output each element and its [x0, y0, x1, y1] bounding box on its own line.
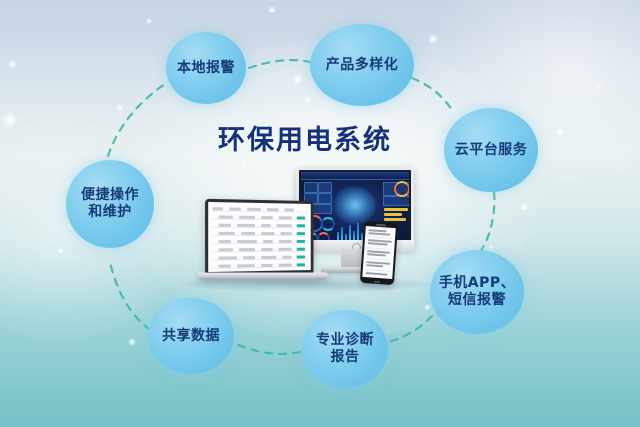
- dashboard-bar: [373, 224, 375, 242]
- table-cell: [237, 223, 255, 226]
- table-cell: [219, 264, 231, 267]
- table-cell: [219, 215, 233, 218]
- phone-speaker-icon: [376, 224, 386, 226]
- bokeh-dot: [488, 244, 494, 250]
- laptop-keyboard-base: [198, 272, 329, 279]
- bokeh-dot: [292, 74, 303, 85]
- connector-ops-to-local: [108, 82, 168, 156]
- table-cell: [261, 247, 273, 250]
- phone-text-line: [368, 242, 388, 245]
- donut-gauge: [305, 232, 318, 244]
- table-cell: [212, 207, 222, 210]
- connector-local-to-product: [249, 60, 310, 68]
- table-cell: [241, 231, 255, 234]
- donut-gauge: [321, 217, 335, 231]
- node-label-line: 手机APP、: [439, 275, 515, 292]
- status-badge: [297, 255, 305, 258]
- table-row: [212, 223, 308, 229]
- device-shadow: [180, 276, 430, 292]
- table-cell: [279, 263, 292, 266]
- bokeh-dot: [2, 112, 18, 128]
- donut-gauge: [317, 232, 330, 244]
- node-label-line: 便捷操作: [81, 187, 139, 204]
- dashboard-bar: [361, 233, 363, 242]
- table-cell: [277, 224, 292, 227]
- table-cell: [219, 231, 235, 234]
- table-row: [212, 262, 308, 269]
- bokeh-dot: [240, 160, 246, 166]
- donut-gauge: [394, 181, 409, 197]
- table-cell: [219, 256, 237, 259]
- phone-text-line: [366, 272, 388, 275]
- dashboard-card: [304, 193, 318, 204]
- table-row: [212, 255, 308, 261]
- bokeh-dot: [58, 248, 64, 254]
- table-cell: [261, 255, 277, 258]
- table-cell: [279, 216, 292, 219]
- table-row: [212, 206, 308, 213]
- table-cell: [282, 255, 292, 258]
- node-label-line: 报告: [316, 349, 374, 366]
- status-badge: [297, 224, 305, 227]
- node-label-group: 专业诊断 报告: [316, 332, 374, 365]
- table-cell: [219, 248, 233, 251]
- status-badge: [297, 239, 305, 242]
- table-cell: [261, 232, 275, 235]
- phone-list-block: [366, 247, 392, 250]
- table-cell: [219, 240, 231, 243]
- bokeh-dot: [424, 304, 431, 311]
- bokeh-dot: [116, 104, 123, 111]
- dashboard-card: [318, 193, 332, 204]
- dashboard-highlight: [384, 218, 406, 221]
- table-cell: [247, 207, 261, 210]
- poster-canvas: 环保用电系统 本地报警 产品多样化 云平台服务 手机APP、 短信报警 专业诊断…: [0, 0, 640, 427]
- bokeh-dot: [304, 96, 311, 103]
- node-product-diversity[interactable]: 产品多样化: [310, 24, 414, 106]
- bokeh-dot: [268, 6, 276, 14]
- desktop-monitor: [296, 167, 414, 249]
- table-cell: [261, 224, 271, 227]
- node-label-group: 便捷操作 和维护: [81, 187, 139, 220]
- bokeh-dot: [128, 338, 136, 346]
- node-label-line: 产品多样化: [326, 57, 399, 74]
- phone-home-button: [374, 281, 380, 283]
- table-cell: [237, 264, 255, 267]
- phone-text-line: [366, 264, 383, 267]
- dashboard-bar: [349, 225, 351, 242]
- table-cell: [279, 239, 292, 242]
- phone-text-line: [366, 261, 390, 264]
- table-cell: [267, 208, 279, 211]
- phone-text-line: [368, 232, 390, 235]
- monitor-bezel-chin: [296, 240, 414, 252]
- dashboard-highlight: [384, 213, 402, 216]
- node-label-group: 共享数据: [162, 328, 220, 345]
- status-badge: [297, 216, 305, 219]
- monitor-logo-icon: [352, 243, 361, 252]
- node-label-group: 手机APP、 短信报警: [439, 275, 515, 308]
- smartphone: [360, 221, 398, 285]
- page-title: 环保用电系统: [218, 118, 392, 157]
- node-label-line: 本地报警: [177, 60, 235, 77]
- phone-list-block: [367, 236, 393, 239]
- bokeh-dot: [556, 128, 564, 136]
- connector-app-to-report: [388, 316, 432, 342]
- table-cell: [261, 216, 273, 219]
- dashboard-bar: [341, 227, 343, 242]
- laptop: [205, 199, 313, 275]
- monitor-stand: [341, 249, 369, 269]
- phone-text-line: [369, 229, 387, 232]
- node-label-line: 短信报警: [439, 292, 515, 309]
- status-badge: [297, 263, 305, 266]
- table-cell: [279, 247, 292, 250]
- table-cell: [284, 208, 294, 211]
- connector-cloud-to-app: [480, 192, 494, 252]
- table-cell: [239, 215, 255, 218]
- dashboard-highlight: [384, 208, 408, 211]
- monitor-dashboard-screen: [301, 172, 409, 244]
- table-cell: [280, 232, 291, 235]
- node-cloud-platform-service[interactable]: 云平台服务: [444, 108, 538, 192]
- dashboard-card: [304, 182, 318, 193]
- dashboard-bar: [369, 230, 371, 242]
- node-professional-diagnosis-report[interactable]: 专业诊断 报告: [302, 310, 388, 388]
- bokeh-dot: [428, 34, 438, 44]
- bokeh-dot: [596, 84, 602, 90]
- node-easy-operation-maintenance[interactable]: 便捷操作 和维护: [66, 160, 154, 248]
- node-label-line: 云平台服务: [455, 142, 528, 159]
- node-label-line: 专业诊断: [316, 332, 374, 349]
- dashboard-bar: [357, 223, 359, 242]
- table-row: [212, 247, 308, 253]
- dashboard-card: [304, 204, 332, 214]
- node-label-group: 产品多样化: [326, 57, 399, 74]
- dashboard-card: [318, 182, 332, 193]
- bokeh-dot: [520, 202, 529, 211]
- table-cell: [237, 240, 257, 243]
- node-shared-data[interactable]: 共享数据: [148, 298, 234, 374]
- table-cell: [219, 223, 231, 226]
- donut-gauge: [306, 215, 323, 232]
- dashboard-bar: [353, 231, 355, 242]
- phone-list-block: [366, 258, 392, 261]
- node-label-line: 和维护: [81, 204, 139, 221]
- china-map-visual: [334, 186, 376, 224]
- table-row: [212, 214, 308, 220]
- phone-text-line: [367, 250, 390, 253]
- dashboard-card: [383, 182, 409, 196]
- table-cell: [239, 248, 255, 251]
- bokeh-dot: [146, 18, 152, 24]
- node-label-group: 云平台服务: [455, 142, 528, 159]
- table-cell: [261, 263, 273, 266]
- table-row: [212, 231, 308, 236]
- phone-text-line: [367, 253, 386, 256]
- monitor-base: [321, 267, 389, 273]
- dashboard-bar: [345, 234, 347, 242]
- table-cell: [263, 239, 273, 242]
- status-badge: [297, 232, 305, 235]
- dashboard-bar: [365, 228, 367, 242]
- bokeh-dot: [8, 60, 17, 69]
- node-mobile-app-sms-alarm[interactable]: 手机APP、 短信报警: [430, 250, 524, 334]
- dashboard-card: [383, 196, 409, 206]
- node-label-line: 共享数据: [162, 328, 220, 345]
- table-cell: [229, 207, 241, 210]
- phone-text-line: [368, 239, 392, 242]
- dashboard-bar: [337, 232, 339, 242]
- node-local-alarm[interactable]: 本地报警: [166, 32, 246, 104]
- connector-share-to-ops: [110, 262, 150, 330]
- table-cell: [243, 256, 255, 259]
- node-label-group: 本地报警: [177, 60, 235, 77]
- phone-list-block: [365, 269, 391, 272]
- status-badge: [297, 247, 305, 250]
- phone-report-screen: [362, 226, 395, 279]
- connector-report-to-share: [236, 344, 300, 354]
- table-row: [212, 239, 308, 244]
- laptop-table-screen: [208, 202, 311, 272]
- dashboard-bar: [377, 232, 379, 242]
- connector-product-to-cloud: [412, 78, 452, 110]
- dashboard-header-bar: [301, 172, 409, 180]
